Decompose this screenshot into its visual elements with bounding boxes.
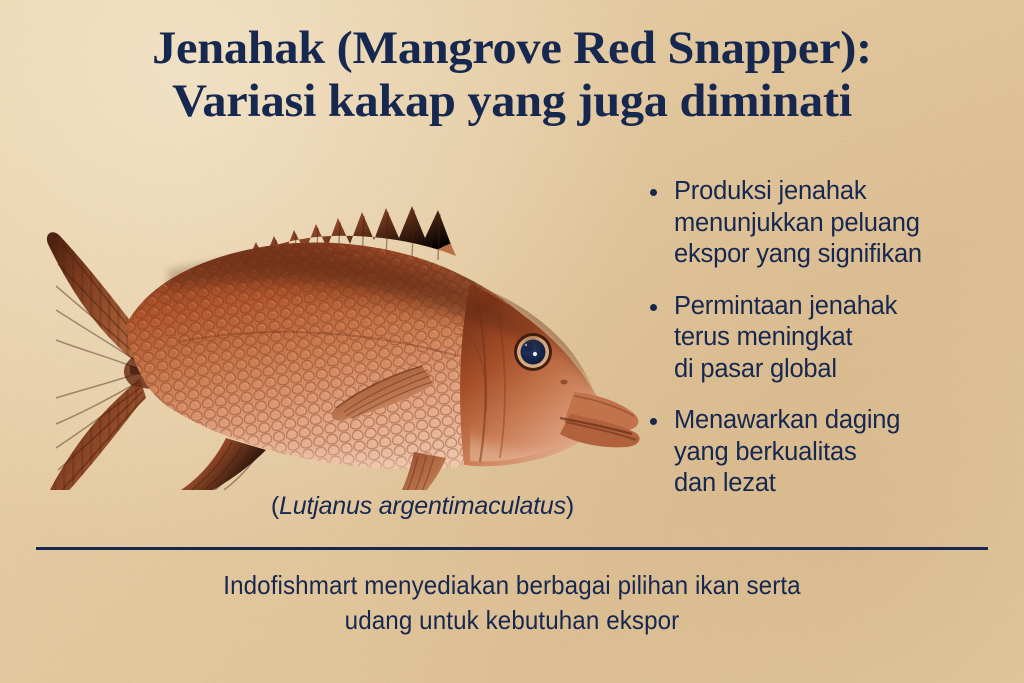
list-item: Menawarkan daging yang berkualitas dan l… (648, 405, 1014, 500)
list-item: Produksi jenahak menunjukkan peluang eks… (648, 176, 1014, 271)
footer-tagline: Indofishmart menyediakan berbagai piliha… (0, 568, 1024, 638)
list-item-line: yang berkualitas (674, 437, 1014, 469)
list-item-line: di pasar global (674, 354, 1014, 386)
paren-close: ) (566, 492, 574, 520)
mangrove-red-snapper-icon (18, 160, 668, 490)
footer-line-1: Indofishmart menyediakan berbagai piliha… (36, 568, 988, 603)
paren-open: ( (271, 492, 279, 520)
page-title: Jenahak (Mangrove Red Snapper): Variasi … (0, 22, 1024, 128)
benefits-list: Produksi jenahak menunjukkan peluang eks… (648, 176, 1014, 500)
anal-fin (174, 438, 266, 490)
list-item-line: ekspor yang signifikan (674, 239, 1014, 271)
horizontal-divider (36, 547, 988, 550)
list-item-line: terus meningkat (674, 322, 1014, 354)
bullet-dot-icon (650, 418, 657, 425)
list-item: Permintaan jenahak terus meningkat di pa… (648, 291, 1014, 386)
title-line-1: Jenahak (Mangrove Red Snapper): (0, 22, 1024, 75)
footer-line-2: udang untuk kebutuhan ekspor (36, 603, 988, 638)
list-item-line: Produksi jenahak (674, 176, 1014, 208)
poster-canvas: Jenahak (Mangrove Red Snapper): Variasi … (0, 0, 1024, 683)
list-item-line: Permintaan jenahak (674, 291, 1014, 323)
bullet-dot-icon (650, 304, 657, 311)
fish-head (458, 264, 640, 480)
scientific-name: Lutjanus argentimaculatus (279, 492, 566, 520)
bullet-dot-icon (650, 189, 657, 196)
title-line-2: Variasi kakap yang juga diminati (0, 75, 1024, 128)
list-item-line: menunjukkan peluang (674, 208, 1014, 240)
species-caption: (Lutjanus argentimaculatus) (0, 492, 845, 521)
fish-illustration (18, 160, 668, 490)
list-item-line: Menawarkan daging (674, 405, 1014, 437)
